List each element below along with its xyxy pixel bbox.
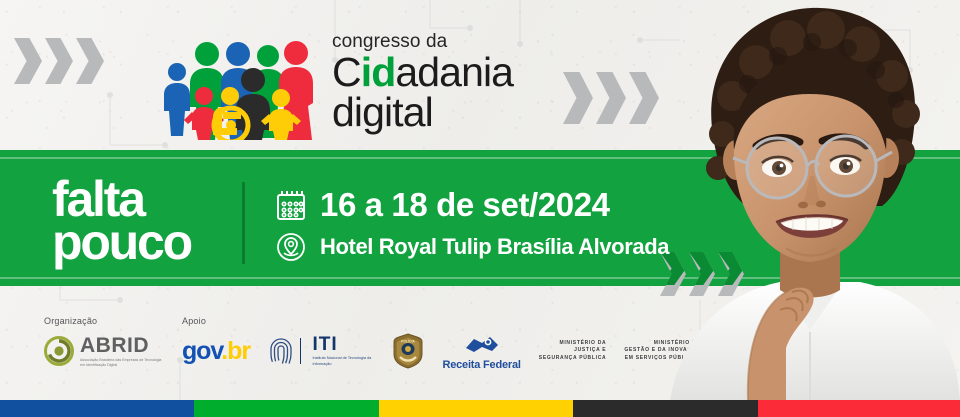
govbr-part1: gov — [182, 337, 221, 365]
ministry-justice-line3: SEGURANÇA PÚBLICA — [539, 355, 607, 362]
receita-federal-icon — [462, 334, 502, 356]
ministry-justice-line1: MINISTÉRIO DA — [539, 340, 607, 347]
ministry-justice: MINISTÉRIO DA JUSTIÇA E SEGURANÇA PÚBLIC… — [539, 316, 607, 371]
sponsor-abrid: Organização ABRID Associação Brasileira … — [44, 316, 164, 371]
iti-tagline: Instituto Nacional de Tecnologia da Info… — [312, 356, 374, 366]
stripe-segment-yellow — [379, 400, 573, 417]
bottom-color-stripe — [0, 400, 960, 417]
event-info: 16 a 18 de set/2024 Hotel Royal Tulip Br… — [276, 186, 669, 262]
event-date-row: 16 a 18 de set/2024 — [276, 186, 669, 224]
receita-federal-name: Receita Federal — [442, 359, 520, 371]
vertical-divider — [242, 182, 245, 264]
chevron-decoration-middle — [563, 72, 659, 124]
abrid-tagline: Associação Brasileira das Empresas de Te… — [80, 358, 164, 368]
stripe-segment-blue — [0, 400, 194, 417]
event-logo-text: congresso da Cidadania digital — [332, 32, 513, 140]
event-date: 16 a 18 de set/2024 — [320, 186, 610, 224]
sponsor-iti: ITI Instituto Nacional de Tecnologia da … — [268, 316, 375, 371]
ministry-justice-line2: JUSTIÇA E — [539, 347, 607, 354]
police-badge-label: POLÍCIA — [402, 338, 416, 343]
abrid-name: ABRID — [80, 335, 164, 356]
sponsor-receita-federal: Receita Federal — [442, 319, 520, 371]
police-badge-icon: POLÍCIA — [392, 333, 424, 369]
stripe-segment-green — [194, 400, 379, 417]
chevron-icon — [596, 72, 626, 124]
fingerprint-icon — [268, 336, 294, 366]
smiling-woman-photo — [660, 0, 960, 400]
stripe-segment-black — [573, 400, 758, 417]
sponsor-govbr: Apoio gov.br — [182, 316, 250, 371]
abrid-circle-icon — [44, 336, 74, 366]
logo-title: Cidadania — [332, 52, 513, 92]
event-logo: congresso da Cidadania digital — [160, 28, 513, 140]
group-of-people-icon — [160, 28, 318, 140]
event-location-row: Hotel Royal Tulip Brasília Alvorada — [276, 232, 669, 262]
chevron-icon — [14, 38, 42, 84]
headline-falta-pouco: falta pouco — [52, 178, 191, 264]
iti-name: ITI — [312, 335, 374, 354]
calendar-icon — [276, 189, 306, 221]
chevron-icon — [563, 72, 593, 124]
logo-title-prefix: C — [332, 49, 361, 95]
govbr-part2: .br — [221, 337, 250, 365]
event-location: Hotel Royal Tulip Brasília Alvorada — [320, 234, 669, 260]
logo-subtitle: digital — [332, 92, 513, 134]
organization-label: Organização — [44, 316, 164, 326]
headline-line2: pouco — [52, 221, 191, 264]
map-pin-icon — [276, 232, 306, 262]
chevron-icon — [45, 38, 73, 84]
logo-title-suffix: adania — [395, 49, 513, 95]
stripe-segment-red — [758, 400, 960, 417]
chevron-icon — [629, 72, 659, 124]
support-label: Apoio — [182, 316, 250, 326]
govbr-wordmark: gov.br — [182, 339, 250, 364]
chevron-icon — [76, 38, 104, 84]
chevron-decoration-left — [14, 38, 104, 84]
logo-title-highlight: id — [361, 49, 396, 95]
sponsor-police-federal: POLÍCIA — [392, 316, 424, 371]
promotional-banner: congresso da Cidadania digital falta pou… — [0, 0, 960, 417]
